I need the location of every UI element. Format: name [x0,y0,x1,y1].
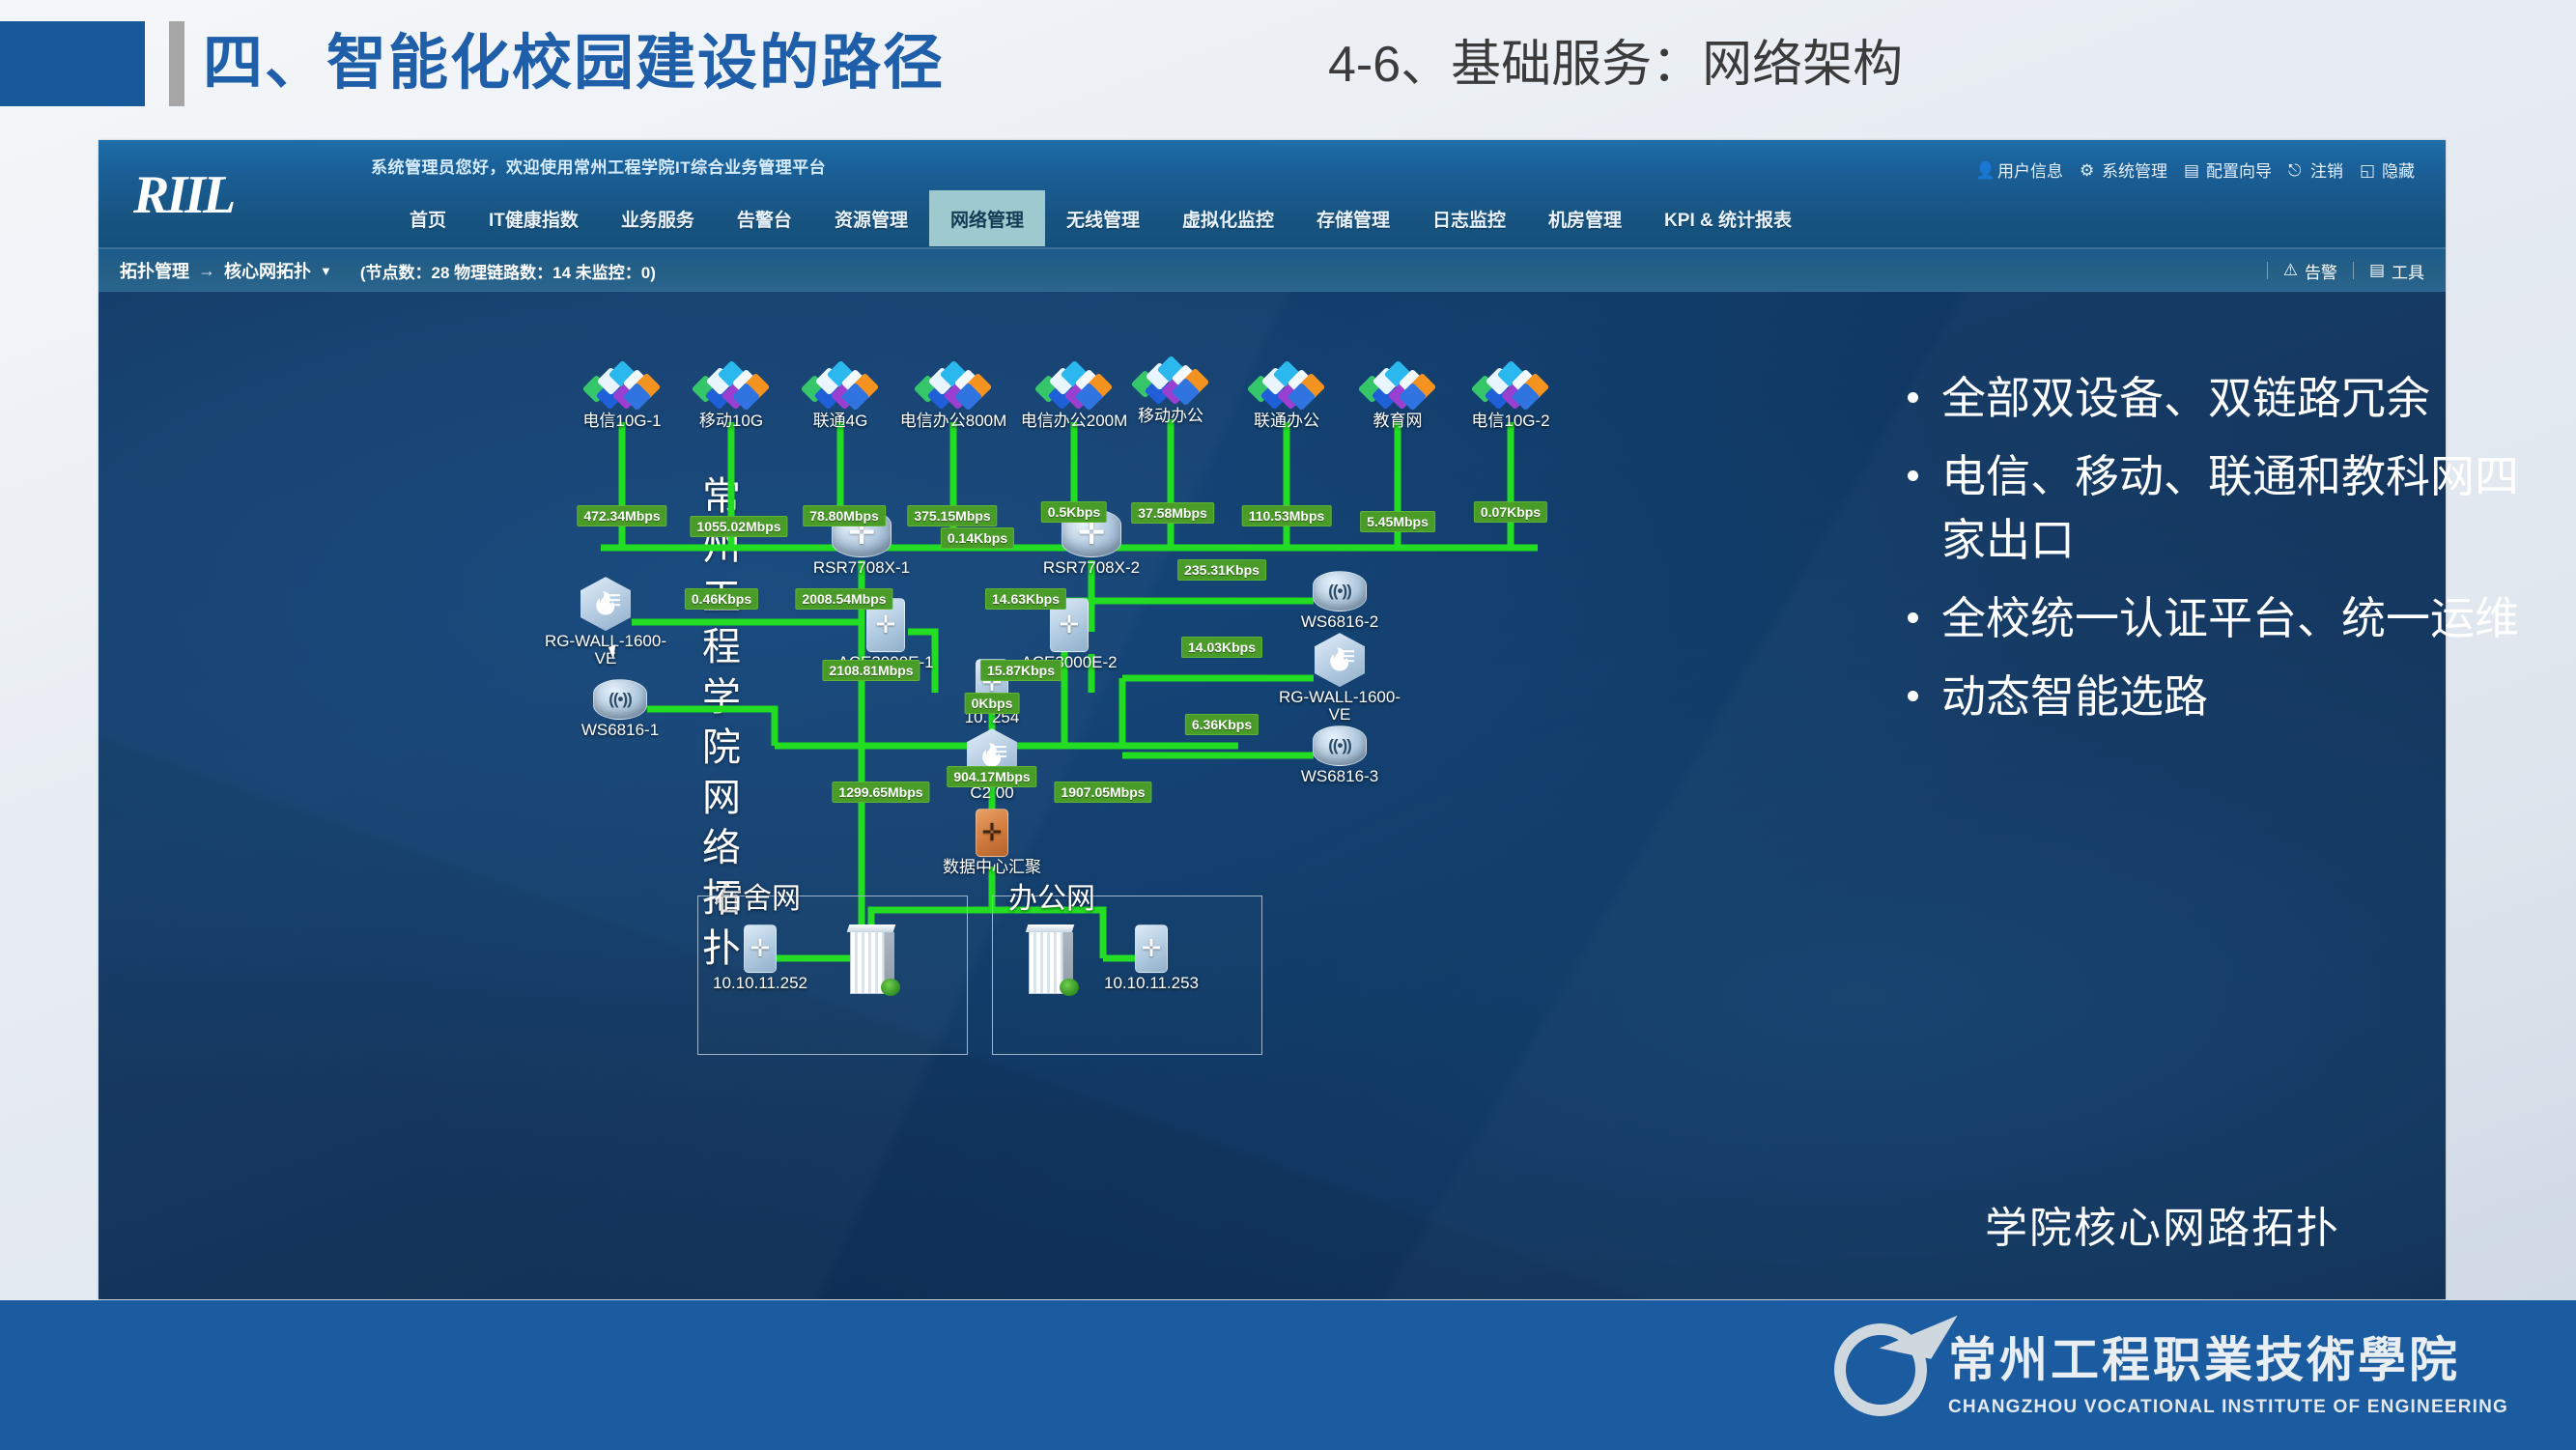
topology-node-label: RG-WALL-1600- VE [1279,689,1401,724]
user-tool-隐藏[interactable]: ◱隐藏 [2360,157,2415,182]
nav-item-11[interactable]: KPI & 统计报表 [1643,190,1813,246]
user-tool-label: 隐藏 [2382,157,2415,182]
user-tool-label: 用户信息 [1997,157,2063,182]
bandwidth-label: 5.45Mbps [1360,511,1435,532]
bullet-list: 全部双设备、双链路冗余电信、移动、联通和教科网四家出口全校统一认证平台、统一运维… [1908,367,2526,745]
topology-node[interactable]: WS6816-2 [1267,571,1412,631]
cloud-icon [803,366,878,411]
slide-caption: 学院核心网路拓扑 [1985,1193,2340,1255]
wireless-controller-icon [593,679,647,720]
bandwidth-label: 14.03Kbps [1181,637,1262,658]
wireless-controller-icon [1313,725,1367,766]
slide-header: 四、智能化校园建设的路径 4-6、基础服务：网络架构 [0,0,2576,135]
cloud-icon [1249,366,1324,411]
bandwidth-label: 235.31Kbps [1177,559,1266,581]
topology-node-label: 移动办公 [1138,408,1203,425]
app-top-bar: RIIL 系统管理员您好，欢迎使用常州工程学院IT综合业务管理平台 首页IT健康… [99,140,2446,249]
bandwidth-label: 37.58Mbps [1131,502,1214,524]
topology-node-label: WS6816-2 [1301,613,1378,631]
nav-item-10[interactable]: 机房管理 [1527,190,1643,246]
topology-zone-title: 宿舍网 [708,874,807,917]
nav-item-9[interactable]: 日志监控 [1411,190,1527,246]
cloud-icon [1133,361,1208,406]
topology-stats: (节点数：28 物理链路数：14 未监控：0) [360,259,656,283]
institute-name-en: CHANGZHOU VOCATIONAL INSTITUTE OF ENGINE… [1948,1397,2508,1418]
user-tool-注销[interactable]: ⎋注销 [2288,157,2343,182]
toolbar-separator [2267,262,2268,279]
bandwidth-label: 0.46Kbps [685,588,758,610]
user-tool-用户信息[interactable]: 👤用户信息 [1975,157,2063,182]
wireless-controller-icon [1313,571,1367,611]
hide-icon: ◱ [2360,161,2377,179]
bandwidth-label: 14.63Kbps [985,588,1066,610]
bandwidth-label: 0.14Kbps [941,527,1014,549]
page-title: 四、智能化校园建设的路径 [203,19,945,108]
topology-node[interactable]: WS6816-1 [548,679,693,739]
user-tool-配置向导[interactable]: ▤配置向导 [2184,157,2272,182]
toolbar-button-告警[interactable]: ⚠告警 [2283,259,2337,283]
toolbar-separator [2353,262,2354,279]
wizard-icon: ▤ [2184,161,2201,179]
breadcrumb-arrow-icon: → [198,261,215,281]
bullet-text: 全校统一认证平台、统一运维 [1941,587,2519,650]
logout-icon: ⎋ [2288,161,2306,179]
topology-node[interactable]: RG-WALL-1600- VE [1267,633,1412,724]
page-subtitle: 4-6、基础服务：网络架构 [1328,25,1903,104]
aggregation-router-icon [976,809,1008,857]
toolbar-button-工具[interactable]: ▤工具 [2369,259,2424,283]
cloud-icon [1473,366,1548,411]
user-tool-label: 系统管理 [2102,157,2167,182]
topology-node-label: 教育网 [1373,412,1423,430]
user-tool-label: 配置向导 [2206,157,2272,182]
bandwidth-label: 78.80Mbps [803,505,886,526]
main-navigation: 首页IT健康指数业务服务告警台资源管理网络管理无线管理虚拟化监控存储管理日志监控… [388,190,1813,246]
topology-node-label: 电信办公800M [900,412,1007,430]
nav-item-5[interactable]: 网络管理 [929,190,1045,246]
topology-node-label: RSR7708X-2 [1043,559,1140,577]
bullet-item: 动态智能选路 [1908,666,2526,728]
nav-item-6[interactable]: 无线管理 [1045,190,1161,246]
bullet-item: 全部双设备、双链路冗余 [1908,367,2526,430]
bandwidth-label: 1055.02Mbps [690,516,787,537]
bullet-item: 全校统一认证平台、统一运维 [1908,587,2526,650]
bandwidth-label: 0.07Kbps [1474,501,1547,523]
user-icon: 👤 [1975,161,1993,179]
user-tools-bar: 👤用户信息⚙系统管理▤配置向导⎋注销◱隐藏 [1966,157,2415,182]
nav-item-8[interactable]: 存储管理 [1295,190,1411,246]
bandwidth-label: 2108.81Mbps [822,660,920,681]
header-accent-bar [169,21,184,106]
bullet-item: 电信、移动、联通和教科网四家出口 [1908,445,2526,572]
bandwidth-label: 472.34Mbps [577,505,666,526]
bandwidth-label: 375.15Mbps [907,505,997,526]
breadcrumb-current[interactable]: 核心网拓扑 [224,258,311,283]
bandwidth-label: 0Kbps [965,693,1020,714]
toolbar-right-actions: ⚠告警▤工具 [2251,249,2424,292]
nav-item-1[interactable]: IT健康指数 [467,190,600,246]
cloud-icon [694,366,769,411]
bullet-dot-icon [1908,612,1918,623]
user-tool-label: 注销 [2310,157,2343,182]
riil-logo: RIIL [133,161,302,229]
tools-icon: ▤ [2369,261,2385,280]
gear-icon: ⚙ [2080,161,2097,179]
bandwidth-label: 2008.54Mbps [795,588,892,610]
topology-node-label: WS6816-1 [581,722,659,739]
bullet-text: 全部双设备、双链路冗余 [1941,367,2430,430]
chevron-down-icon[interactable]: ▼ [320,264,332,278]
bullet-dot-icon [1908,691,1918,701]
topology-zone: 办公网 [992,896,1262,1055]
topology-node[interactable]: RG-WALL-1600- VE [533,577,678,668]
firewall-icon [580,577,631,631]
topology-node-label: RSR7708X-1 [813,559,910,577]
topology-zone: 宿舍网 [697,896,968,1055]
topology-node-label: 电信10G-1 [582,412,661,430]
topology-sub-toolbar: 拓扑管理 → 核心网拓扑 ▼ (节点数：28 物理链路数：14 未监控：0) ⚠… [99,249,2446,292]
bandwidth-label: 1907.05Mbps [1054,782,1151,803]
topology-node-label: 联通4G [813,412,868,430]
topology-node-label: 电信10G-2 [1471,412,1549,430]
nav-item-0[interactable]: 首页 [388,190,467,246]
nav-item-3[interactable]: 告警台 [716,190,813,246]
topology-node-label: RG-WALL-1600- VE [545,633,666,668]
nav-item-4[interactable]: 资源管理 [813,190,929,246]
cloud-icon [584,366,660,411]
bandwidth-label: 15.87Kbps [980,660,1062,681]
welcome-message: 系统管理员您好，欢迎使用常州工程学院IT综合业务管理平台 [371,154,826,178]
topology-node[interactable]: WS6816-3 [1267,725,1412,785]
cloud-icon [1360,366,1435,411]
nav-item-2[interactable]: 业务服务 [600,190,716,246]
alert-triangle-icon: ⚠ [2283,261,2298,280]
bullet-text: 动态智能选路 [1941,666,2208,728]
topology-node[interactable]: 数据中心汇聚 [920,809,1064,876]
institute-name-cn: 常州工程职業技術學院 [1948,1322,2508,1391]
toolbar-button-label: 工具 [2392,259,2424,283]
bandwidth-label: 110.53Mbps [1242,505,1332,526]
toolbar-button-label: 告警 [2305,259,2337,283]
topology-node-label: 联通办公 [1254,412,1319,430]
breadcrumb-root[interactable]: 拓扑管理 [120,258,189,283]
bullet-text: 电信、移动、联通和教科网四家出口 [1941,445,2526,572]
topology-node[interactable]: 电信10G-2 [1438,366,1583,430]
bandwidth-label: 904.17Mbps [947,766,1036,787]
bandwidth-label: 6.36Kbps [1185,714,1259,735]
institute-logo: 常州工程职業技術學院 CHANGZHOU VOCATIONAL INSTITUT… [1834,1322,2508,1418]
topology-node-label: 移动10G [699,412,763,430]
bullet-dot-icon [1908,470,1918,481]
institute-emblem-icon [1834,1323,1927,1416]
bandwidth-label: 0.5Kbps [1041,501,1107,523]
cloud-icon [916,366,991,411]
header-accent-block [0,21,145,106]
user-tool-系统管理[interactable]: ⚙系统管理 [2080,157,2167,182]
bullet-dot-icon [1908,392,1918,403]
topology-node-label: WS6816-3 [1301,768,1378,785]
bandwidth-label: 1299.65Mbps [832,782,929,803]
nav-item-7[interactable]: 虚拟化监控 [1161,190,1295,246]
slide-footer: 常州工程职業技術學院 CHANGZHOU VOCATIONAL INSTITUT… [0,1300,2576,1450]
topology-zone-title: 办公网 [1003,874,1101,917]
firewall-icon [1315,633,1365,687]
breadcrumb: 拓扑管理 → 核心网拓扑 ▼ (节点数：28 物理链路数：14 未监控：0) [120,249,656,292]
topology-node[interactable]: C2 00 [920,728,1064,802]
